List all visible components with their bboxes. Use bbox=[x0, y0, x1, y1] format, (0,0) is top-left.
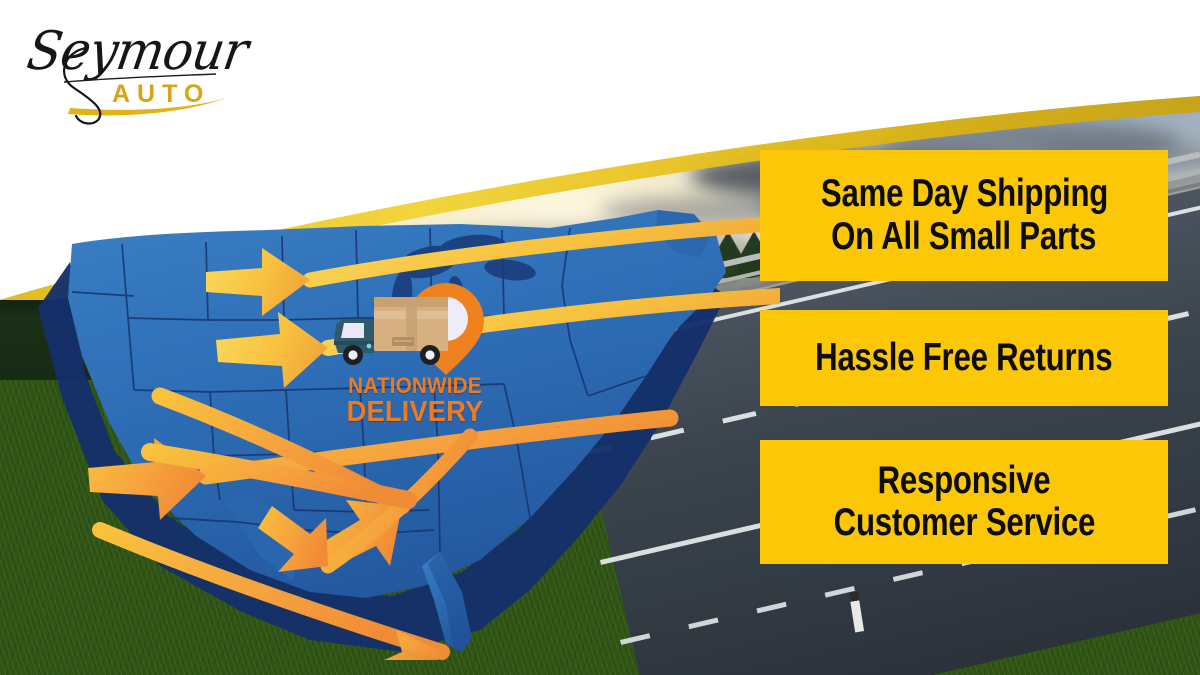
seymour-auto-logo[interactable]: Seymour AUTO bbox=[20, 18, 245, 128]
banner3-line1: Responsive bbox=[878, 460, 1051, 502]
banner1-line1: Same Day Shipping bbox=[820, 173, 1107, 215]
nationwide-delivery-badge: NATIONWIDE DELIVERY bbox=[320, 275, 510, 445]
logo-script-underline bbox=[64, 74, 216, 82]
promo-banner-stage: NATIONWIDE DELIVERY Seymour AUTO Same Da… bbox=[0, 0, 1200, 675]
badge-text-block: NATIONWIDE DELIVERY bbox=[320, 375, 510, 428]
delivery-truck-icon bbox=[334, 297, 448, 365]
banner-hassle-free-returns[interactable]: Hassle Free Returns bbox=[760, 310, 1168, 406]
banner1-line2: On All Small Parts bbox=[831, 216, 1096, 258]
banner3-line2: Customer Service bbox=[833, 502, 1094, 544]
badge-line-delivery: DELIVERY bbox=[326, 398, 505, 428]
banner-responsive-customer-service[interactable]: Responsive Customer Service bbox=[760, 440, 1168, 564]
badge-line-nationwide: NATIONWIDE bbox=[326, 375, 505, 398]
banner2-line1: Hassle Free Returns bbox=[815, 337, 1112, 379]
banner-same-day-shipping[interactable]: Same Day Shipping On All Small Parts bbox=[760, 150, 1168, 281]
